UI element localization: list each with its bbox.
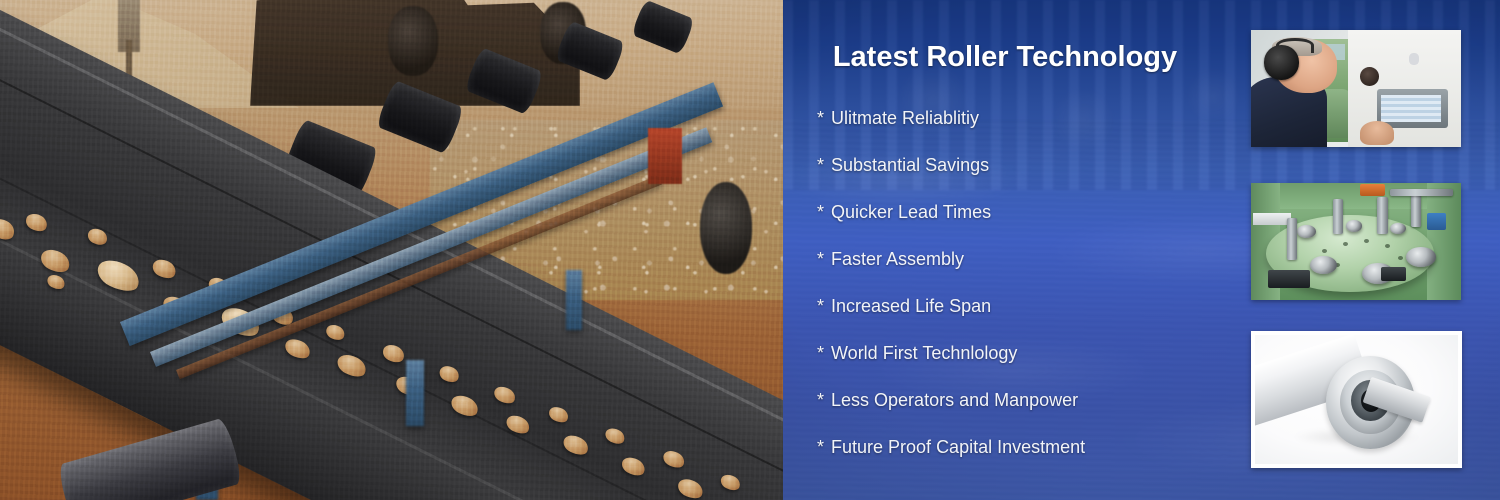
- machine-frame-right: [1427, 183, 1461, 300]
- bullet-marker-icon: *: [817, 296, 824, 316]
- list-item: *Less Operators and Manpower: [817, 388, 1237, 435]
- benefits-list: *Ulitmate Reliablitiy *Substantial Savin…: [817, 106, 1237, 482]
- hmi-panel: [1377, 89, 1448, 129]
- photo-grain: [0, 0, 783, 500]
- conveyor-roller-end-photo: [1251, 331, 1462, 468]
- white-chute: [1253, 213, 1291, 225]
- pneumatic-rail: [1390, 189, 1453, 196]
- bullet-marker-icon: *: [817, 155, 824, 175]
- tooling-block: [1381, 267, 1406, 281]
- roller-bearing-part: [1406, 247, 1435, 267]
- page-title-text: Latest Roller Technology: [824, 41, 1186, 74]
- conveyor-belt-quarry-photo: [0, 0, 783, 500]
- promo-banner: Latest Roller Technology *Ulitmate Relia…: [0, 0, 1500, 500]
- operator-control-panel-photo: [1251, 30, 1461, 147]
- pneumatic-actuator: [1411, 195, 1422, 228]
- roller-bearing-part: [1297, 225, 1316, 238]
- list-item-label: Substantial Savings: [831, 155, 989, 175]
- list-item-label: World First Technlology: [831, 343, 1017, 363]
- bullet-marker-icon: *: [817, 202, 824, 222]
- bullet-marker-icon: *: [817, 249, 824, 269]
- orange-manifold: [1360, 184, 1385, 196]
- list-item-label: Faster Assembly: [831, 249, 964, 269]
- list-item: *World First Technlology: [817, 341, 1237, 388]
- list-item: *Ulitmate Reliablitiy: [817, 106, 1237, 153]
- pneumatic-actuator: [1287, 218, 1298, 260]
- list-item: *Substantial Savings: [817, 153, 1237, 200]
- ear-defender-cup: [1264, 45, 1300, 80]
- hmi-screen: [1381, 95, 1441, 122]
- bullet-marker-icon: *: [817, 343, 824, 363]
- list-item: *Faster Assembly: [817, 247, 1237, 294]
- list-item-label: Quicker Lead Times: [831, 202, 991, 222]
- page-title: Latest Roller Technology: [824, 41, 1186, 74]
- wall-fitting: [1409, 53, 1420, 65]
- rotary-assembly-table-photo: [1251, 183, 1461, 300]
- list-item: *Increased Life Span: [817, 294, 1237, 341]
- list-item-label: Ulitmate Reliablitiy: [831, 108, 979, 128]
- list-item-label: Less Operators and Manpower: [831, 390, 1078, 410]
- bullet-marker-icon: *: [817, 437, 824, 457]
- blue-hose: [1427, 213, 1446, 229]
- tooling-block: [1268, 270, 1310, 289]
- list-item-label: Future Proof Capital Investment: [831, 437, 1085, 457]
- bullet-marker-icon: *: [817, 108, 824, 128]
- roller-bearing-part: [1310, 256, 1337, 275]
- pneumatic-actuator: [1333, 199, 1344, 234]
- list-item: *Quicker Lead Times: [817, 200, 1237, 247]
- info-panel: Latest Roller Technology *Ulitmate Relia…: [783, 0, 1500, 500]
- bullet-marker-icon: *: [817, 390, 824, 410]
- operator-hand: [1360, 121, 1394, 144]
- list-item: *Future Proof Capital Investment: [817, 435, 1237, 482]
- list-item-label: Increased Life Span: [831, 296, 991, 316]
- pneumatic-actuator: [1377, 197, 1388, 234]
